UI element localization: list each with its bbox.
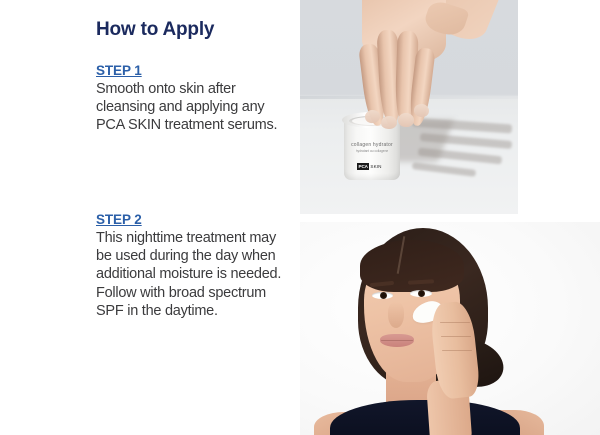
fingernail [398,113,414,128]
iris-left [380,292,387,299]
photo-model-applying-cream [300,222,600,435]
finger-separation-line [441,336,471,337]
instructions-column: How to Apply STEP 1 Smooth onto skin aft… [96,0,288,435]
nose [388,302,404,328]
step-2-body: This nighttime treatment may be used dur… [96,229,288,320]
fingernail [381,116,398,130]
step-1-body: Smooth onto skin after cleansing and app… [96,80,288,135]
iris-right [418,290,425,297]
step-2-link[interactable]: STEP 2 [96,212,142,227]
step-1-link[interactable]: STEP 1 [96,63,142,78]
step-block-1: STEP 1 Smooth onto skin after cleansing … [96,62,288,135]
hand-illustration [300,0,518,214]
photo-hand-dipping-into-jar: collagen hydrator hydratant au collagene… [300,0,518,214]
finger-separation-line [442,350,472,351]
page-title: How to Apply [96,19,214,41]
step-block-2: STEP 2 This nighttime treatment may be u… [96,211,288,320]
finger-separation-line [440,322,470,323]
